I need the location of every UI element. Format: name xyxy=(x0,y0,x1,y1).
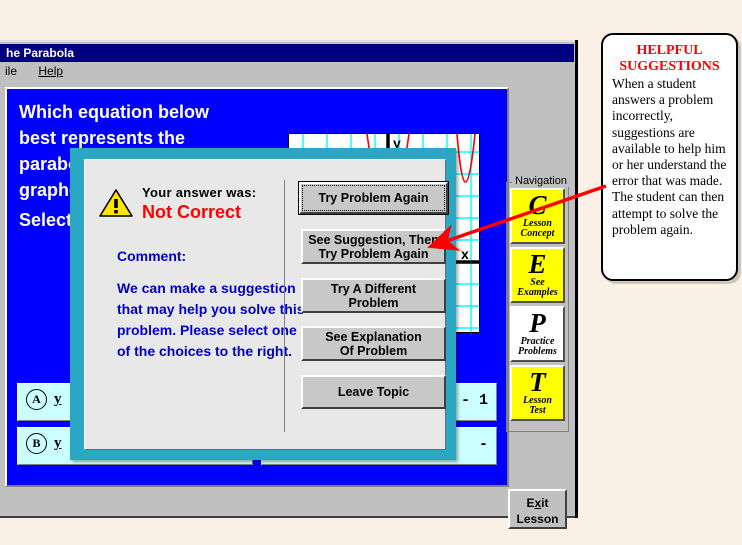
menu-bar: ile Help xyxy=(0,62,574,81)
comment-body: We can make a suggestion that may help y… xyxy=(117,278,307,362)
comment-label: Comment: xyxy=(117,248,186,264)
nav-button-practice-problems[interactable]: P Practice Problems xyxy=(510,306,565,362)
nav-letter-p: P xyxy=(512,309,563,337)
nav-t-line2: Test xyxy=(512,406,563,416)
exit-lesson-button[interactable]: Exit Lesson xyxy=(508,489,567,529)
try-problem-again-focus-ring: Try Problem Again xyxy=(298,181,449,215)
callout-body: When a student answers a problem incorre… xyxy=(612,76,727,238)
nav-button-see-examples[interactable]: E See Examples xyxy=(510,247,565,303)
warning-icon xyxy=(99,188,133,218)
nav-e-line2: Examples xyxy=(512,288,563,298)
exit-line2: Lesson xyxy=(516,512,558,526)
menu-item-help[interactable]: Help xyxy=(29,62,72,81)
try-a-different-problem-button[interactable]: Try A Different Problem xyxy=(301,278,446,313)
svg-text:x: x xyxy=(461,246,469,262)
nav-c-line2: Concept xyxy=(512,229,563,239)
answer-a-tail: - 1 xyxy=(461,392,488,409)
verdict-text: Not Correct xyxy=(142,202,241,223)
nav-letter-c: C xyxy=(512,191,563,219)
callout-title: HELPFUL SUGGESTIONS xyxy=(612,43,727,75)
dialog-divider xyxy=(284,180,285,432)
dialog-body: Your answer was: Not Correct Comment: We… xyxy=(84,159,446,450)
nav-letter-e: E xyxy=(512,250,563,278)
title-bar: he Parabola xyxy=(0,44,574,62)
navigation-group-label: Navigation xyxy=(512,175,570,187)
try-problem-again-button[interactable]: Try Problem Again xyxy=(299,182,448,214)
nav-p-line2: Problems xyxy=(512,347,563,357)
answer-b-equation: y xyxy=(54,435,62,451)
nav-letter-t: T xyxy=(512,368,563,396)
see-explanation-of-problem-button[interactable]: See Explanation Of Problem xyxy=(301,326,446,361)
answer-b-letter: B xyxy=(26,433,47,454)
answer-b-tail: - xyxy=(479,436,488,453)
menu-item-file[interactable]: ile xyxy=(0,62,26,81)
menu-item-file-label: ile xyxy=(5,64,17,78)
not-correct-dialog: Your answer was: Not Correct Comment: We… xyxy=(70,148,456,460)
leave-topic-button[interactable]: Leave Topic xyxy=(301,375,446,409)
window-right-edge xyxy=(575,40,578,518)
see-suggestion-then-try-again-button[interactable]: See Suggestion, Then Try Problem Again xyxy=(301,229,446,264)
window-title: he Parabola xyxy=(6,46,74,60)
menu-item-help-label: Help xyxy=(38,64,63,78)
helpful-suggestions-callout: HELPFUL SUGGESTIONS When a student answe… xyxy=(601,33,738,281)
nav-button-lesson-test[interactable]: T Lesson Test xyxy=(510,365,565,421)
nav-button-lesson-concept[interactable]: C Lesson Concept xyxy=(510,188,565,244)
answer-a-equation: y xyxy=(54,391,62,407)
answer-a-letter: A xyxy=(26,389,47,410)
exit-line1-post: it xyxy=(541,496,548,510)
answer-was-label: Your answer was: xyxy=(142,185,256,200)
